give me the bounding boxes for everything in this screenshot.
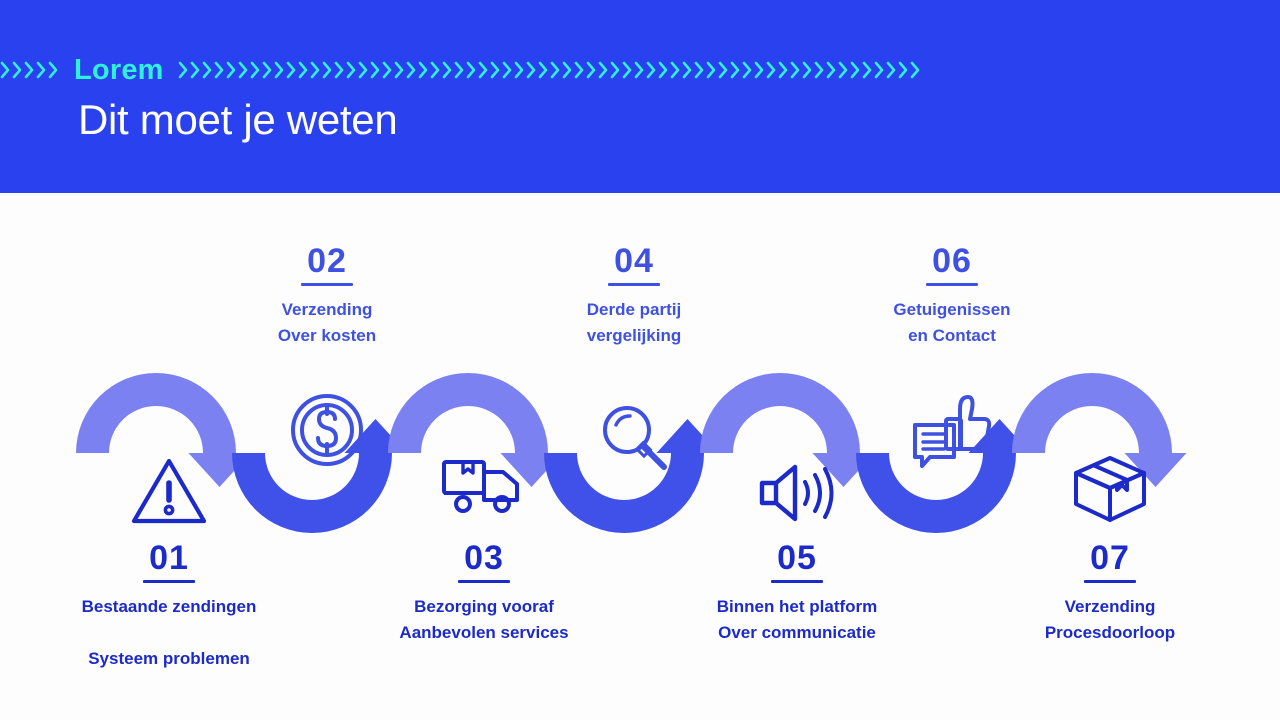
chevron-icon — [466, 61, 477, 79]
warning-triangle-icon — [119, 447, 219, 537]
chevron-icon — [226, 61, 237, 79]
chevron-icon — [190, 61, 201, 79]
chevron-icon — [586, 61, 597, 79]
step-number-underline — [608, 283, 660, 286]
brand-label: Lorem — [60, 56, 178, 85]
chevron-icon — [814, 61, 825, 79]
chevron-icon — [394, 61, 405, 79]
dollar-coin-icon — [277, 385, 377, 475]
wave-arch-light — [76, 373, 236, 453]
chevron-icon — [478, 61, 489, 79]
chevron-icon — [346, 61, 357, 79]
chevron-icon — [382, 61, 393, 79]
thumbs-up-chat-icon — [902, 385, 1002, 475]
chevron-icon — [694, 61, 705, 79]
chevron-icon — [838, 61, 849, 79]
chevron-icon — [898, 61, 909, 79]
magnifier-icon — [584, 392, 684, 482]
chevron-run-right — [178, 61, 922, 79]
step-label-line: Over communicatie — [677, 620, 917, 646]
step-label-line: Bestaande zendingen — [49, 594, 289, 620]
chevron-icon — [622, 61, 633, 79]
step-07: 07 VerzendingProcesdoorloop — [990, 540, 1230, 645]
chevron-icon — [214, 61, 225, 79]
step-label-line: Derde partij — [514, 297, 754, 323]
step-number: 06 — [832, 243, 1072, 280]
chevron-icon — [454, 61, 465, 79]
page-title: Dit moet je weten — [78, 97, 397, 143]
chevron-icon — [670, 61, 681, 79]
chevron-icon — [202, 61, 213, 79]
chevron-icon — [310, 61, 321, 79]
chevron-icon — [262, 61, 273, 79]
step-number: 05 — [677, 540, 917, 577]
chevron-icon — [442, 61, 453, 79]
step-06: 06 Getuigenissenen Contact — [832, 243, 1072, 348]
chevron-icon — [730, 61, 741, 79]
step-label-group: Binnen het platformOver communicatie — [677, 594, 917, 645]
chevron-icon — [826, 61, 837, 79]
chevron-icon — [238, 61, 249, 79]
chevron-icon — [298, 61, 309, 79]
chevron-icon — [406, 61, 417, 79]
chevron-icon — [370, 61, 381, 79]
chevron-icon — [550, 61, 561, 79]
step-number-underline — [301, 283, 353, 286]
chevron-icon — [24, 61, 35, 79]
chevron-icon — [574, 61, 585, 79]
chevron-icon — [862, 61, 873, 79]
chevron-icon — [886, 61, 897, 79]
step-03: 03 Bezorging voorafAanbevolen services — [364, 540, 604, 645]
step-05: 05 Binnen het platformOver communicatie — [677, 540, 917, 645]
chevron-icon — [48, 61, 59, 79]
chevron-icon — [802, 61, 813, 79]
chevron-icon — [682, 61, 693, 79]
step-number: 07 — [990, 540, 1230, 577]
step-label-line: Binnen het platform — [677, 594, 917, 620]
chevron-icon — [598, 61, 609, 79]
chevron-icon — [754, 61, 765, 79]
chevron-icon — [646, 61, 657, 79]
step-label-group: Getuigenissenen Contact — [832, 297, 1072, 348]
chevron-icon — [718, 61, 729, 79]
step-label-group: Bezorging voorafAanbevolen services — [364, 594, 604, 645]
step-label-line: Bezorging vooraf — [364, 594, 604, 620]
chevron-icon — [910, 61, 921, 79]
chevron-icon — [514, 61, 525, 79]
step-number-underline — [143, 580, 195, 583]
chevron-icon — [562, 61, 573, 79]
chevron-icon — [706, 61, 717, 79]
step-label-line: Systeem problemen — [49, 646, 289, 672]
chevron-icon — [778, 61, 789, 79]
chevron-icon — [766, 61, 777, 79]
step-04: 04 Derde partijvergelijking — [514, 243, 754, 348]
step-label-group: Bestaande zendingenSysteem problemen — [49, 594, 289, 671]
step-01: 01 Bestaande zendingenSysteem problemen — [49, 540, 289, 671]
chevron-icon — [634, 61, 645, 79]
chevron-icon — [36, 61, 47, 79]
step-number: 04 — [514, 243, 754, 280]
chevron-icon — [790, 61, 801, 79]
step-number: 01 — [49, 540, 289, 577]
header-chevron-decoration: Lorem — [0, 52, 1280, 88]
chevron-icon — [490, 61, 501, 79]
chevron-icon — [334, 61, 345, 79]
step-label-line: Verzending — [207, 297, 447, 323]
step-label-line: Getuigenissen — [832, 297, 1072, 323]
wave-arch-light — [388, 373, 548, 453]
speaker-icon — [747, 448, 847, 538]
step-number-underline — [458, 580, 510, 583]
step-number: 03 — [364, 540, 604, 577]
wave-arch-light — [700, 373, 860, 453]
chevron-icon — [178, 61, 189, 79]
chevron-icon — [274, 61, 285, 79]
step-02: 02 VerzendingOver kosten — [207, 243, 447, 348]
chevron-icon — [286, 61, 297, 79]
chevron-run-left — [0, 61, 60, 79]
step-number-underline — [1084, 580, 1136, 583]
chevron-icon — [12, 61, 23, 79]
step-label-line: Aanbevolen services — [364, 620, 604, 646]
step-label-line: en Contact — [832, 323, 1072, 349]
step-label-line: Verzending — [990, 594, 1230, 620]
step-number-underline — [771, 580, 823, 583]
step-label-group: VerzendingProcesdoorloop — [990, 594, 1230, 645]
chevron-icon — [610, 61, 621, 79]
header-band: Lorem Dit moet je weten — [0, 0, 1280, 193]
step-label-group: VerzendingOver kosten — [207, 297, 447, 348]
chevron-icon — [322, 61, 333, 79]
step-number: 02 — [207, 243, 447, 280]
step-label-group: Derde partijvergelijking — [514, 297, 754, 348]
delivery-truck-icon — [434, 442, 534, 532]
chevron-icon — [538, 61, 549, 79]
chevron-icon — [526, 61, 537, 79]
step-label-line: Over kosten — [207, 323, 447, 349]
step-label-line: Procesdoorloop — [990, 620, 1230, 646]
chevron-icon — [358, 61, 369, 79]
chevron-icon — [418, 61, 429, 79]
chevron-icon — [250, 61, 261, 79]
chevron-icon — [742, 61, 753, 79]
step-label-line: vergelijking — [514, 323, 754, 349]
wave-arch-light — [1012, 373, 1172, 453]
package-box-icon — [1060, 444, 1160, 534]
chevron-icon — [874, 61, 885, 79]
chevron-icon — [658, 61, 669, 79]
chevron-icon — [850, 61, 861, 79]
step-number-underline — [926, 283, 978, 286]
chevron-icon — [502, 61, 513, 79]
chevron-icon — [0, 61, 11, 79]
chevron-icon — [430, 61, 441, 79]
